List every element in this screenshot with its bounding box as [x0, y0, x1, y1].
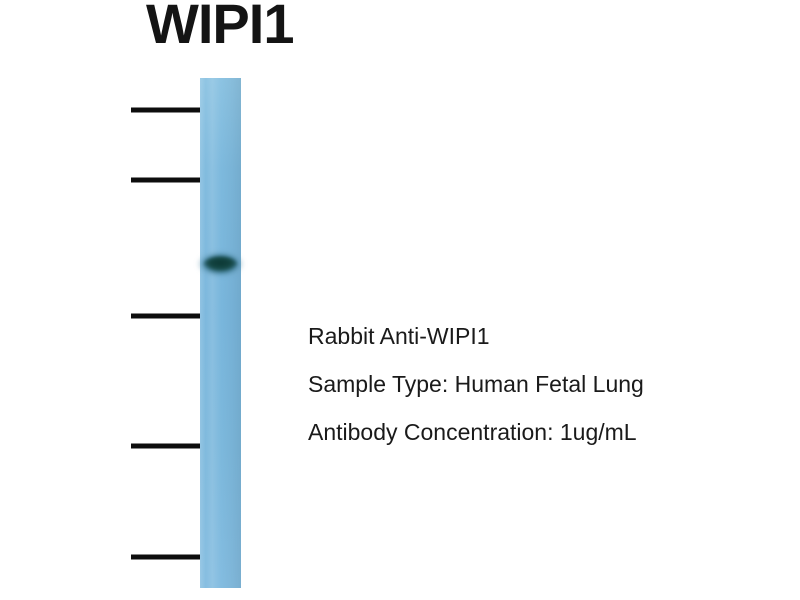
page-title: WIPI1 [146, 0, 293, 52]
western-blot-figure: WIPI1 90 65 40 29 22 Rabbit Anti-WIPI1 S… [0, 0, 800, 600]
ladder-marker-dash [131, 314, 201, 319]
ladder-marker-dash [131, 178, 201, 183]
ladder-marker-dash [131, 555, 201, 560]
annotation-antibody-concentration: Antibody Concentration: 1ug/mL [308, 408, 778, 456]
annotation-block: Rabbit Anti-WIPI1 Sample Type: Human Fet… [308, 312, 778, 456]
annotation-sample-type: Sample Type: Human Fetal Lung [308, 360, 778, 408]
protein-band-core [204, 257, 237, 270]
ladder-marker-dash [131, 444, 201, 449]
blot-lane [200, 78, 241, 588]
ladder-marker-dash [131, 108, 201, 113]
annotation-antibody: Rabbit Anti-WIPI1 [308, 312, 778, 360]
